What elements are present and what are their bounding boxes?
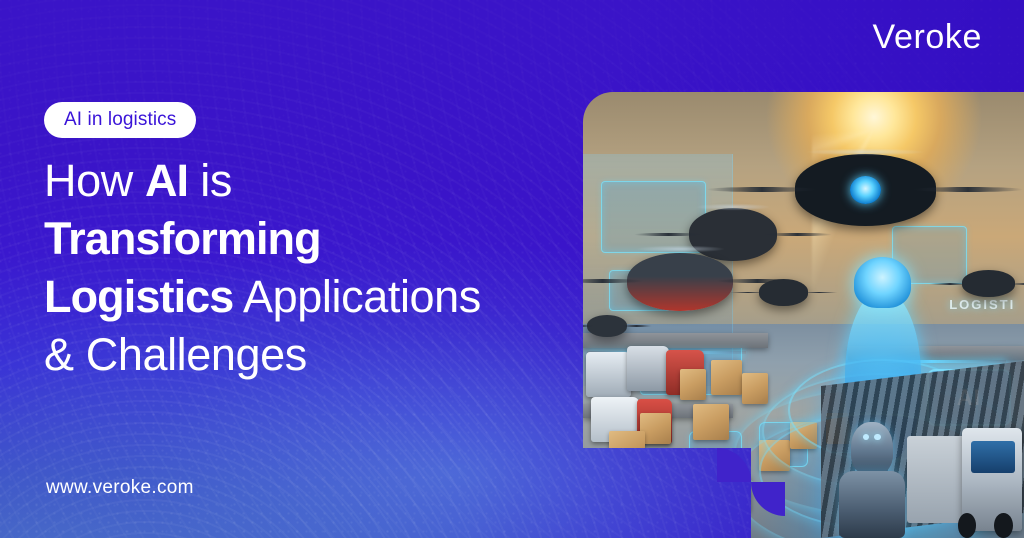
category-badge[interactable]: AI in logistics [44,102,196,138]
hero-cargo-box [711,360,742,396]
truck-wheel [958,513,976,538]
hero-cargo-box [680,369,706,400]
headline-line-1: How AI is [44,152,604,210]
hero-cargo-box [609,431,644,467]
blog-banner: Veroke AI in logistics How AI is Transfo… [0,0,1024,538]
drone-rotor [680,202,786,212]
headline-word-ai: AI [145,155,188,206]
hero-image-clip: AUTOMATION LOGISTI [583,92,1024,538]
robot-eye-left [863,434,870,440]
headline-word-challenges: & Challenges [44,329,307,380]
truck-windshield [971,441,1015,473]
hero-notch-corner-top [717,448,751,482]
hero-drone-small-3 [962,270,1015,297]
headline-line-4: & Challenges [44,326,604,384]
hologram-brain-icon [854,257,911,308]
page-title: How AI is Transforming Logistics Applica… [44,152,604,384]
truck-cargo-bed [907,436,969,523]
hero-cargo-box [742,373,768,404]
hero-drone-red [627,253,733,311]
hero-artwork: AUTOMATION LOGISTI [583,92,1024,538]
hero-cargo-box [640,413,671,444]
hero-van-1 [586,352,630,397]
headline-word-applications: Applications [233,271,480,322]
hero-image: AUTOMATION LOGISTI [583,92,1024,538]
hero-van-2 [627,346,668,391]
website-url[interactable]: www.veroke.com [46,478,194,497]
headline-word-logistics: Logistics [44,271,233,322]
headline-line-2: Transforming [44,210,604,268]
hero-drone-small-2 [587,315,627,337]
robot-body [839,471,905,538]
veroke-logo[interactable]: Veroke [873,20,982,54]
robot-eye-right [874,434,881,440]
headline-word-is: is [188,155,232,206]
truck-wheel [994,513,1012,538]
headline-line-3: Logistics Applications [44,268,604,326]
hero-drone-small-1 [759,279,808,306]
hero-drone-large [795,154,936,225]
hero-cargo-box [693,404,728,440]
hero-delivery-truck [909,413,1024,538]
headline-word-how: How [44,155,145,206]
category-badge-label: AI in logistics [64,109,176,130]
headline-word-transforming: Transforming [44,213,321,264]
drone-camera-eye [850,176,881,205]
hero-robot [834,422,909,538]
robot-head [851,422,893,475]
